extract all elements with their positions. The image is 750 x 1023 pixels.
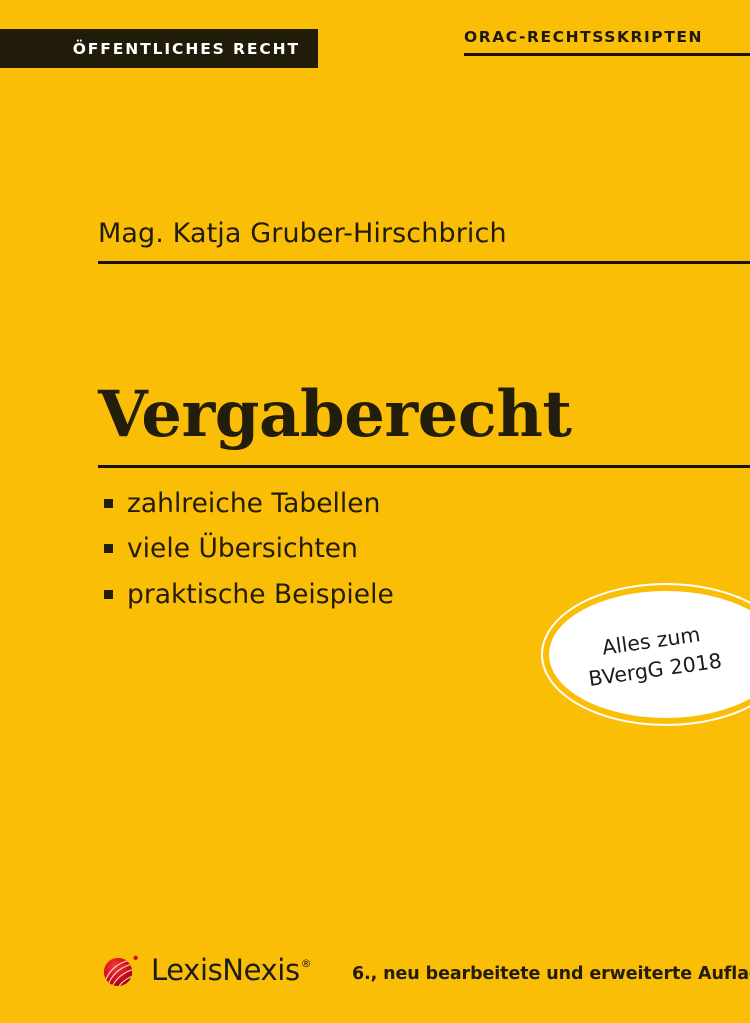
title-block: Vergaberecht [98,382,750,468]
badge-text: Alles zum BVergG 2018 [583,615,750,695]
publisher-wordmark: LexisNexis [151,953,300,987]
lexisnexis-sphere-icon [101,951,140,990]
registered-trademark-icon: ® [301,957,312,970]
list-item: praktische Beispiele [104,580,394,610]
status-badge: Alles zum BVergG 2018 [541,583,750,726]
feature-label: praktische Beispiele [127,580,394,610]
list-item: viele Übersichten [104,534,394,564]
author-divider [98,261,750,264]
series-block: ORAC-RECHTSSKRIPTEN [464,30,750,56]
author-block: Mag. Katja Gruber-Hirschbrich [98,218,750,264]
list-item: zahlreiche Tabellen [104,489,394,519]
book-cover: ÖFFENTLICHES RECHT ORAC-RECHTSSKRIPTEN M… [0,0,750,1023]
category-label: ÖFFENTLICHES RECHT [73,40,300,58]
series-label: ORAC-RECHTSSKRIPTEN [464,30,750,53]
feature-label: zahlreiche Tabellen [127,489,380,519]
publisher-logo: LexisNexis® [101,951,311,990]
category-bar: ÖFFENTLICHES RECHT [0,29,318,68]
series-underline [464,53,750,56]
author-name: Mag. Katja Gruber-Hirschbrich [98,218,750,250]
title-divider [98,465,750,468]
publisher-name: LexisNexis® [151,956,311,985]
square-bullet-icon [104,544,113,553]
square-bullet-icon [104,499,113,508]
page-title: Vergaberecht [98,382,750,447]
edition-statement: 6., neu bearbeitete und erweiterte Aufla… [352,964,750,984]
feature-label: viele Übersichten [127,534,358,564]
square-bullet-icon [104,590,113,599]
feature-list: zahlreiche Tabellen viele Übersichten pr… [104,489,394,625]
